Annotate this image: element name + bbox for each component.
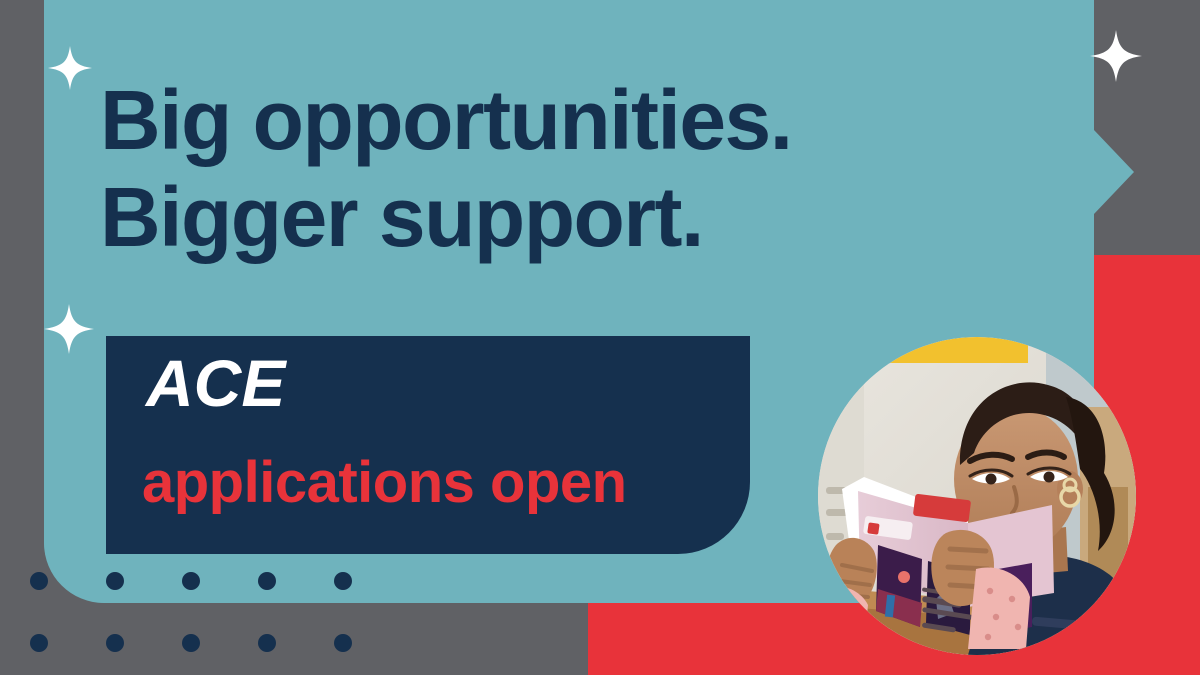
dot <box>30 634 48 652</box>
dot <box>334 572 352 590</box>
ace-program-label: ACE <box>146 350 285 416</box>
dot <box>30 572 48 590</box>
headline-line-1: Big opportunities. <box>100 72 1100 169</box>
dot <box>334 634 352 652</box>
ace-status-label: applications open <box>142 454 627 512</box>
dot <box>182 634 200 652</box>
promo-poster: Big opportunities. Bigger support. ACE a… <box>0 0 1200 675</box>
dot <box>258 572 276 590</box>
sparkle-icon-top-left <box>48 46 92 90</box>
sparkle-icon-mid-left <box>44 304 94 354</box>
dot <box>258 634 276 652</box>
headline-line-2: Bigger support. <box>100 169 1100 266</box>
student-photo <box>818 337 1136 655</box>
ace-badge: ACE applications open <box>106 336 750 554</box>
dot <box>182 572 200 590</box>
sparkle-icon-top-right <box>1090 30 1142 82</box>
dot <box>106 572 124 590</box>
dot <box>106 634 124 652</box>
page-title: Big opportunities. Bigger support. <box>100 72 1100 265</box>
